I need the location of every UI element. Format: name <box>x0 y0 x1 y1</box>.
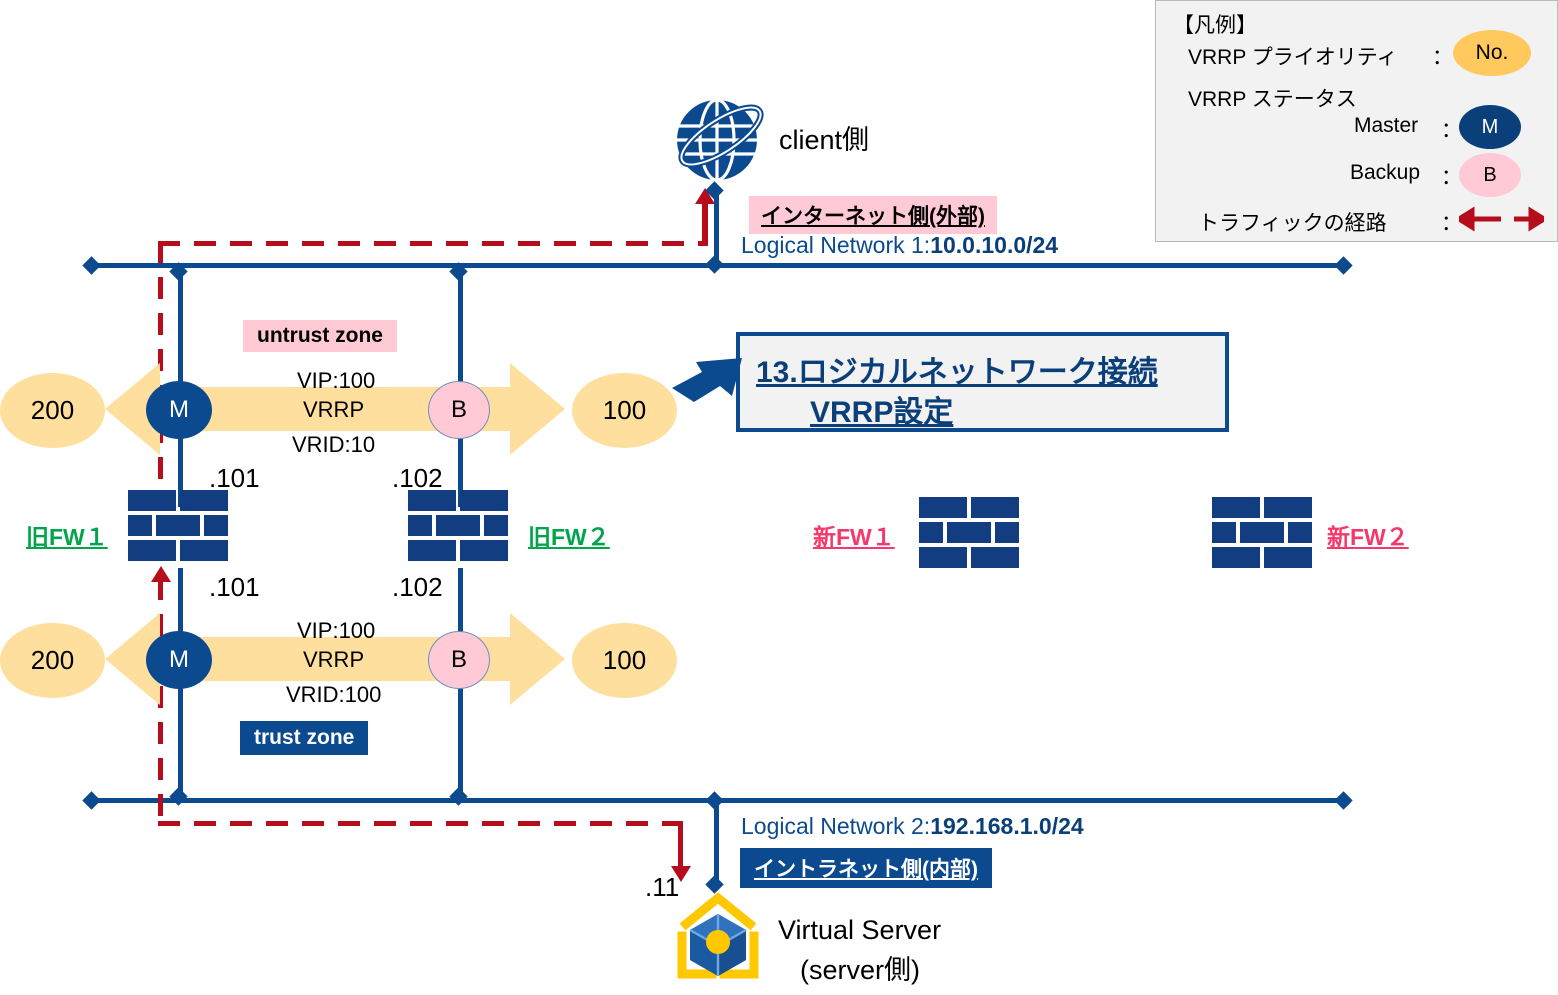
title-callout-line1: 13.ロジカルネットワーク接続 <box>756 347 1158 391</box>
trust-backup-badge: B <box>428 631 490 689</box>
traffic-path-up-arrowhead <box>151 566 171 582</box>
traffic-arrow-to-client-line <box>702 200 708 245</box>
virtual-server-label-line1: Virtual Server <box>778 915 941 946</box>
new-fw-2-icon <box>1212 497 1312 572</box>
legend-priority-label: VRRP プライオリティ <box>1188 41 1398 71</box>
logical-network-2-prefix: Logical Network 2: <box>741 813 930 839</box>
legend-master-swatch: M <box>1459 105 1521 149</box>
untrust-vrid-label: VRID:10 <box>292 432 375 458</box>
legend-box: 【凡例】 VRRP プライオリティ ： No. VRRP ステータス Maste… <box>1155 0 1558 242</box>
title-callout-arrow-icon <box>672 358 742 402</box>
untrust-backup-badge: B <box>428 381 490 439</box>
legend-heading: 【凡例】 <box>1173 9 1257 39</box>
untrust-protocol-label: VRRP <box>303 397 364 423</box>
trust-left-priority: 200 <box>0 623 105 698</box>
legend-backup-swatch: B <box>1459 153 1521 197</box>
traffic-path-bottom-horizontal <box>158 821 683 826</box>
old-fw-2-label: 旧FW２ <box>528 518 610 552</box>
client-uplink-bus-connector <box>705 255 723 273</box>
trust-right-priority: 100 <box>572 623 677 698</box>
old-fw-1-label: 旧FW１ <box>26 518 108 552</box>
new-fw-2-label: 新FW２ <box>1327 518 1409 552</box>
title-callout-box: 13.ロジカルネットワーク接続 VRRP設定 <box>736 332 1229 432</box>
title-callout-line2: VRRP設定 <box>810 387 953 431</box>
legend-priority-swatch: No. <box>1453 30 1531 76</box>
untrust-master-badge: M <box>146 381 212 439</box>
legend-status-label: VRRP ステータス <box>1188 83 1357 113</box>
new-fw-1-label: 新FW１ <box>813 518 895 552</box>
trust-protocol-label: VRRP <box>303 647 364 673</box>
logical-network-2-label: Logical Network 2:192.168.1.0/24 <box>741 813 1084 840</box>
bus2-right-endpoint <box>1334 791 1352 809</box>
untrust-vip-label: VIP:100 <box>297 368 375 394</box>
client-globe-icon <box>669 88 769 188</box>
trust-fw2-ip: .102 <box>392 572 443 603</box>
bus2-left-endpoint <box>82 791 100 809</box>
trust-fw1-ip: .101 <box>209 572 260 603</box>
internet-zone-tag: インターネット側(外部) <box>749 196 997 234</box>
traffic-path-top-horizontal <box>158 241 708 246</box>
logical-network-1-cidr: 10.0.10.0/24 <box>930 232 1058 258</box>
logical-network-1-prefix: Logical Network 1: <box>741 232 930 258</box>
legend-master-label: Master <box>1354 114 1418 138</box>
legend-traffic-arrows-icon <box>1459 206 1544 232</box>
virtual-server-icon <box>668 890 768 990</box>
client-label: client側 <box>779 118 869 157</box>
traffic-path-down-to-server-line <box>678 821 683 869</box>
old-fw-1-icon <box>128 490 228 565</box>
new-fw-1-icon <box>919 497 1019 572</box>
bus1-right-endpoint <box>1334 256 1352 274</box>
untrust-right-priority: 100 <box>572 373 677 448</box>
untrust-left-priority: 200 <box>0 373 105 448</box>
old-fw-2-icon <box>408 490 508 565</box>
trust-vrid-label: VRID:100 <box>286 682 381 708</box>
logical-network-1-label: Logical Network 1:10.0.10.0/24 <box>741 232 1058 259</box>
legend-backup-label: Backup <box>1350 161 1420 185</box>
logical-network-2-cidr: 192.168.1.0/24 <box>930 813 1083 839</box>
trust-zone-tag: trust zone <box>240 721 368 755</box>
trust-master-badge: M <box>146 631 212 689</box>
server-downlink-line <box>714 800 719 884</box>
bus1-left-endpoint <box>82 256 100 274</box>
virtual-server-label-line2: (server側) <box>800 948 920 987</box>
untrust-zone-tag: untrust zone <box>243 320 397 352</box>
trust-vip-label: VIP:100 <box>297 618 375 644</box>
intranet-zone-tag: イントラネット側(内部) <box>740 848 992 888</box>
server-downlink-bus-connector <box>705 791 723 809</box>
legend-priority-colon: ： <box>1432 41 1453 71</box>
legend-traffic-label: トラフィックの経路 <box>1198 207 1387 237</box>
